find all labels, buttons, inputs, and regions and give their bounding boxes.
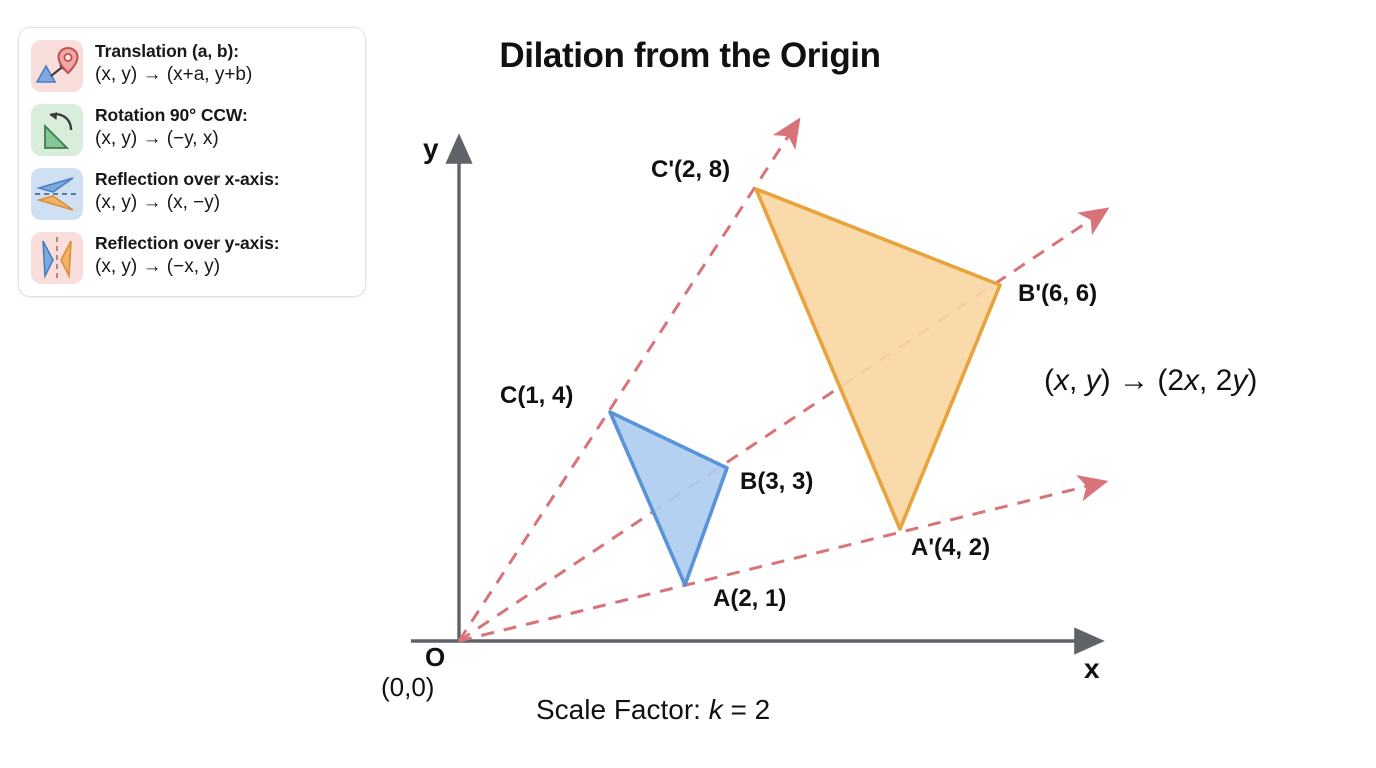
vertex-label-c-prime: C'(2, 8) [651, 156, 730, 184]
vertex-label-c: C(1, 4) [500, 382, 573, 410]
axis-label-x: x [1084, 653, 1100, 685]
mapping-rule-x: x [1054, 364, 1069, 397]
vertex-label-b-prime: B'(6, 6) [1018, 280, 1097, 308]
scale-factor-value: = 2 [723, 694, 770, 725]
axis-label-y: y [423, 133, 439, 165]
mapping-rule: (x, y) → (2x, 2y) [1044, 364, 1257, 398]
vertex-label-b: B(3, 3) [740, 468, 813, 496]
ray-through-a [459, 486, 1088, 641]
mapping-rule-prefix: ( [1044, 364, 1054, 397]
slide-canvas: Translation (a, b): (x, y) → (x+a, y+b) … [0, 0, 1376, 768]
mapping-rule-y2: y [1232, 364, 1247, 397]
mapping-rule-arrow: ) → (2 [1101, 364, 1184, 397]
origin-label: O [425, 642, 445, 673]
vertex-label-a-prime: A'(4, 2) [911, 534, 990, 562]
mapping-rule-x2: x [1184, 364, 1199, 397]
vertex-label-a: A(2, 1) [713, 585, 786, 613]
mapping-rule-y: y [1086, 364, 1101, 397]
scale-factor-label: Scale Factor: [536, 694, 709, 725]
mapping-rule-mid2: , 2 [1199, 364, 1232, 397]
scale-factor-symbol: k [709, 694, 723, 725]
scale-factor-note: Scale Factor: k = 2 [536, 694, 770, 726]
origin-coordinates: (0,0) [381, 672, 434, 703]
mapping-rule-mid: , [1069, 364, 1086, 397]
mapping-rule-suffix: ) [1247, 364, 1257, 397]
preimage-triangle [610, 412, 727, 585]
